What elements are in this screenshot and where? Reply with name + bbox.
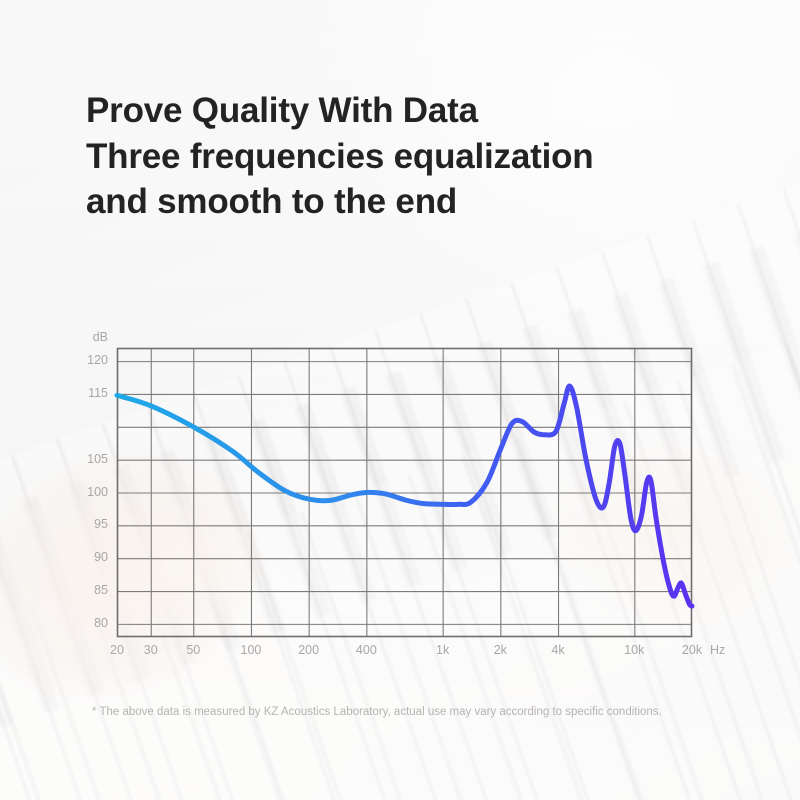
headline-line-2: Three frequencies equalization: [86, 134, 746, 180]
x-tick-label: 30: [137, 643, 165, 657]
y-tick-label: 80: [94, 616, 108, 630]
x-tick-label: 4k: [544, 643, 572, 657]
y-axis-unit-label: dB: [93, 330, 108, 344]
measurement-disclaimer: * The above data is measured by KZ Acous…: [92, 704, 662, 722]
x-tick-label: 10k: [620, 643, 648, 657]
x-tick-label: 2k: [486, 643, 514, 657]
page-title: Prove Quality With Data Three frequencie…: [86, 88, 746, 225]
headline-line-1: Prove Quality With Data: [86, 88, 746, 134]
x-tick-label: 20: [103, 643, 131, 657]
frequency-response-curve: [117, 386, 692, 606]
x-axis-unit-label: Hz: [710, 643, 725, 657]
chart-canvas: [117, 348, 692, 637]
x-tick-label: 400: [352, 643, 380, 657]
y-tick-label: 120: [87, 353, 108, 367]
y-tick-label: 115: [88, 386, 108, 400]
frequency-response-chart: 120115105100959085802030501002004001k2k4…: [117, 348, 692, 637]
headline-line-3: and smooth to the end: [86, 179, 746, 225]
y-tick-label: 85: [94, 583, 108, 597]
y-tick-label: 105: [87, 452, 108, 466]
x-tick-label: 20k: [678, 643, 706, 657]
y-tick-label: 100: [87, 485, 108, 499]
x-tick-label: 1k: [429, 643, 457, 657]
x-tick-label: 200: [295, 643, 323, 657]
y-tick-label: 90: [94, 550, 108, 564]
x-tick-label: 100: [237, 643, 265, 657]
y-tick-label: 95: [94, 517, 108, 531]
x-tick-label: 50: [179, 643, 207, 657]
